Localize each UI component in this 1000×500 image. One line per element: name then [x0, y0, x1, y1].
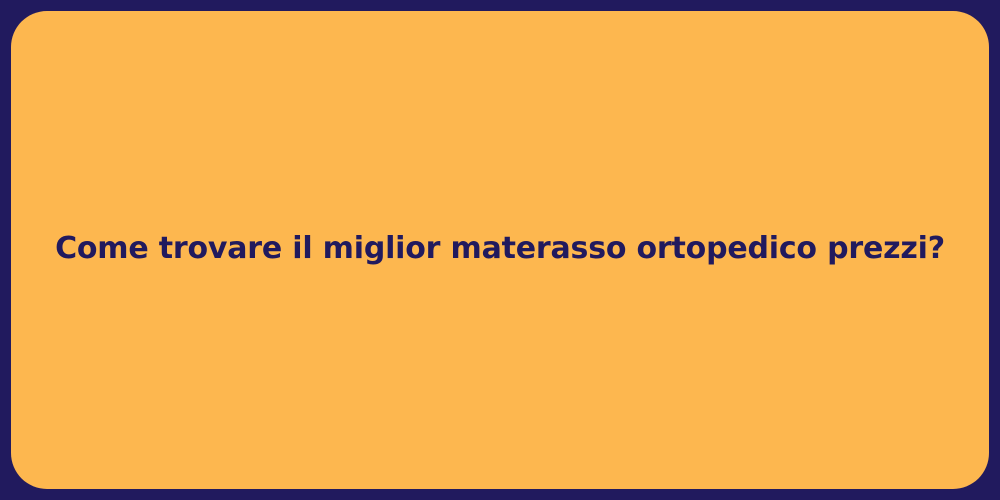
- card-heading-container: Come trovare il miglior materasso ortope…: [11, 230, 989, 268]
- card-heading: Come trovare il miglior materasso ortope…: [55, 230, 945, 268]
- card-outer-frame: Come trovare il miglior materasso ortope…: [0, 0, 1000, 500]
- card-panel: Come trovare il miglior materasso ortope…: [11, 11, 989, 489]
